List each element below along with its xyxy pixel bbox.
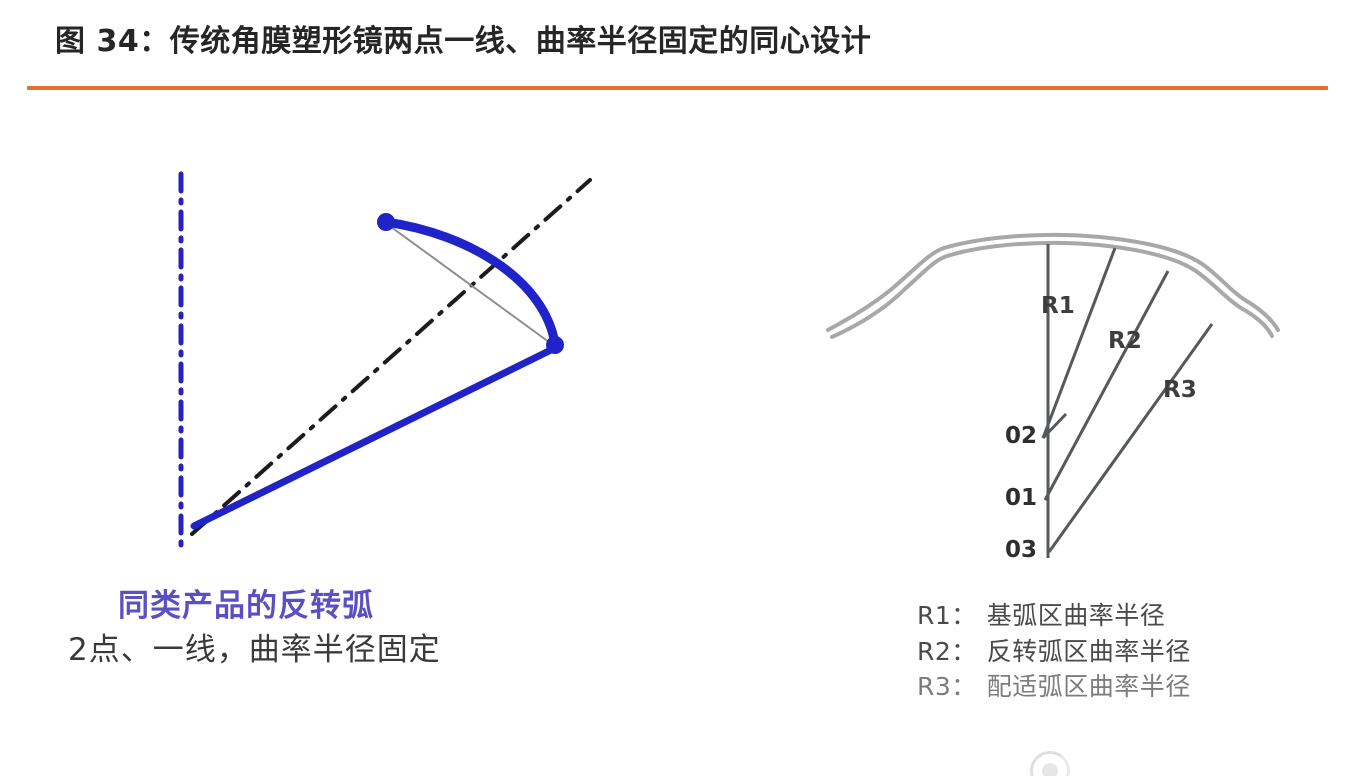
reverse-curve-arc (386, 222, 555, 344)
title-divider (27, 86, 1328, 90)
legend-text: 反转弧区曲率半径 (987, 637, 1191, 666)
legend-key: R3： (917, 672, 977, 701)
radius-line-r1 (1043, 248, 1115, 438)
contact-point-upper (377, 213, 395, 231)
straight-line-segment (194, 347, 557, 526)
center-label-o2: 02 (1005, 423, 1037, 449)
legend-key: R1： (917, 601, 977, 630)
left-diagram-group (181, 174, 590, 551)
figure-page: 图 34：传统角膜塑形镜两点一线、曲率半径固定的同心设计 (0, 0, 1368, 776)
page-title: 图 34：传统角膜塑形镜两点一线、曲率半径固定的同心设计 (55, 16, 871, 60)
center-label-o3: 03 (1005, 537, 1037, 563)
figure-canvas: R1 R2 R3 02 01 03 同类产品的反转弧 2点、一线，曲率半径固定 … (0, 96, 1368, 776)
legend-text: 基弧区曲率半径 (987, 601, 1166, 630)
caption-highlight-text: 同类产品的反转弧 (118, 588, 578, 625)
center-label-o1: 01 (1005, 485, 1037, 511)
caption-main-text: 2点、一线，曲率半径固定 (68, 631, 578, 670)
cornea-outline-inner (832, 243, 1272, 337)
right-diagram-legend: R1：基弧区曲率半径 R2：反转弧区曲率半径 R3：配适弧区曲率半径 (917, 598, 1317, 705)
legend-row: R3：配适弧区曲率半径 (917, 669, 1317, 705)
legend-text: 配适弧区曲率半径 (987, 672, 1191, 701)
legend-row: R2：反转弧区曲率半径 (917, 634, 1317, 670)
right-diagram-group: R1 R2 R3 02 01 03 (828, 235, 1278, 563)
radius-label-r2: R2 (1108, 328, 1142, 354)
left-diagram-caption: 同类产品的反转弧 2点、一线，曲率半径固定 (118, 588, 578, 670)
contact-point-lower (546, 336, 564, 354)
legend-key: R2： (917, 637, 977, 666)
radius-label-r3: R3 (1163, 377, 1197, 403)
radius-label-r1: R1 (1041, 293, 1075, 319)
legend-row: R1：基弧区曲率半径 (917, 598, 1317, 634)
